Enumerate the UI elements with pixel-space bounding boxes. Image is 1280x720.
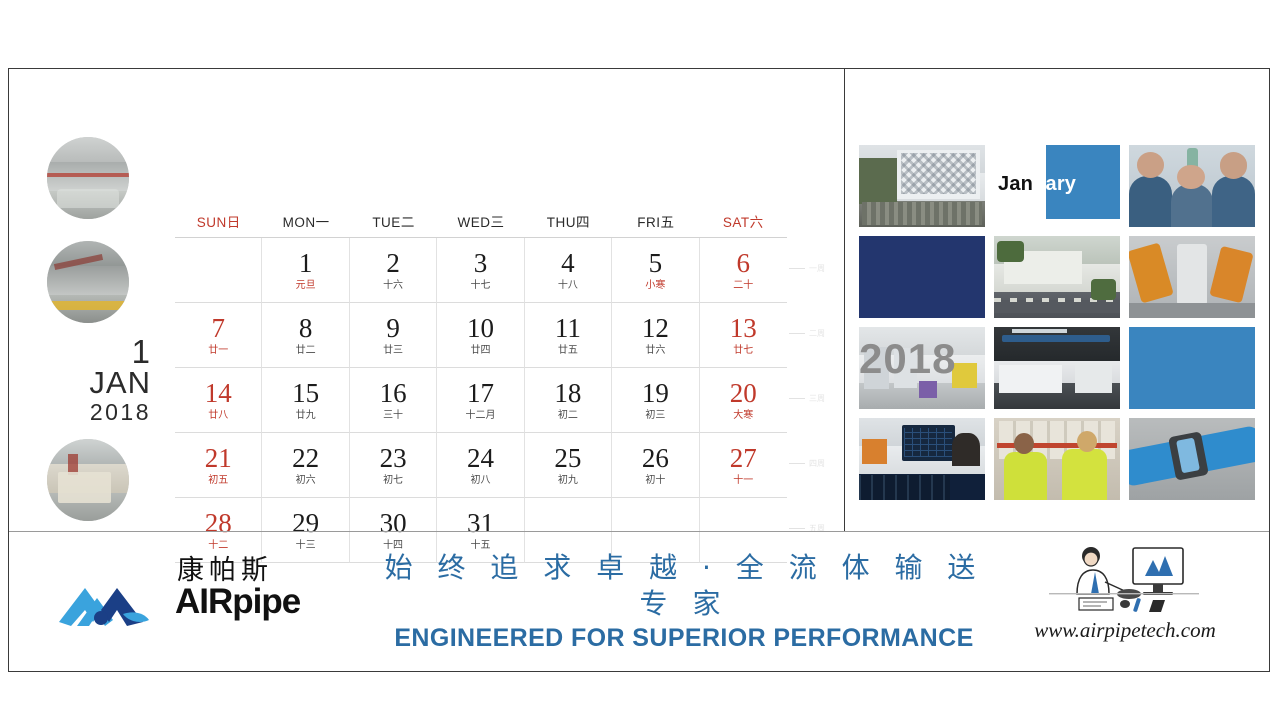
photo-shape-person-left-body	[1129, 176, 1172, 227]
photo-grid: January	[859, 145, 1255, 497]
photo-shape-tree	[859, 158, 897, 204]
photo-shape-worker-left-vest	[1004, 452, 1047, 500]
day-number: 16	[380, 379, 407, 408]
tile-aerial-warehouse-facility	[994, 236, 1120, 318]
calendar-day-cell[interactable]: 11廿五	[525, 303, 612, 368]
tagline-english: ENGINEERED FOR SUPERIOR PERFORMANCE	[379, 622, 989, 654]
photo-shape-ceiling-light	[1012, 329, 1067, 333]
calendar-day-cell[interactable]: 1元旦	[262, 238, 349, 303]
lunar-date-label: 初九	[558, 474, 578, 488]
week-marker-rule	[789, 333, 805, 334]
january-label: January	[998, 173, 1076, 196]
calendar-day-cell[interactable]: 4十八	[525, 238, 612, 303]
photo-shape-factory-floor	[1129, 303, 1255, 318]
lunar-date-label: 初二	[558, 409, 578, 423]
calendar-day-cell[interactable]: 2十六	[350, 238, 437, 303]
photo-shape-machine-right	[1075, 363, 1113, 393]
day-number: 8	[299, 314, 313, 343]
calendar-panel: 1 JAN 2018 SUN日MON一TUE二WED三THU四FRI五SAT六 …	[9, 69, 845, 531]
weekday-header-5: FRI五	[612, 211, 699, 231]
weekday-header-2: TUE二	[350, 211, 437, 231]
tile-january-label-blue-square: January	[994, 145, 1120, 227]
tile-office-building-group-photo	[859, 145, 985, 227]
photo-shape-worker-right-vest	[1062, 449, 1107, 500]
photo-shape-person-center-body	[1171, 184, 1214, 227]
photo-accent-line	[47, 301, 129, 310]
brand-wordmark: AIRpipe	[175, 582, 300, 622]
day-number: 18	[554, 379, 581, 408]
tile-machine-room-dark-interior	[994, 327, 1120, 409]
brand-block: 康帕斯 AIRpipe	[9, 532, 369, 671]
lunar-date-label: 二十	[733, 279, 753, 293]
lunar-date-label: 大寒	[733, 409, 753, 423]
day-number: 4	[561, 249, 575, 278]
photo-shape-purple-crate	[919, 381, 937, 397]
day-number: 25	[554, 444, 581, 473]
day-number: 1	[299, 249, 313, 278]
calendar-day-cell[interactable]: 13廿七	[700, 303, 787, 368]
calendar-day-cell[interactable]: 26初十	[612, 433, 699, 498]
sidebar-photo-production-line-overhead	[47, 241, 129, 323]
day-number: 7	[211, 314, 225, 343]
calendar-cell-empty	[175, 238, 262, 303]
day-number: 23	[380, 444, 407, 473]
month-indicator: 1 JAN 2018	[31, 337, 151, 425]
photo-collage-panel: January	[845, 69, 1269, 531]
week-marker-label: 三周	[809, 393, 825, 404]
photo-shape-cad-drawing-screen	[904, 428, 952, 458]
lunar-date-label: 十一	[733, 474, 753, 488]
calendar-day-cell[interactable]: 25初九	[525, 433, 612, 498]
photo-region-middle	[47, 266, 129, 299]
photo-shape-person-right-body	[1212, 176, 1255, 227]
week-marker-2: 二周	[789, 328, 825, 339]
day-number: 5	[649, 249, 663, 278]
calendar-day-cell[interactable]: 15廿九	[262, 368, 349, 433]
sidebar-photo-strip: 1 JAN 2018	[31, 69, 159, 531]
week-marker-rule	[789, 528, 805, 529]
day-number: 15	[292, 379, 319, 408]
calendar-day-cell[interactable]: 22初六	[262, 433, 349, 498]
january-label-inside: uary	[1033, 173, 1076, 195]
week-marker-rule	[789, 463, 805, 464]
calendar-day-cell[interactable]: 12廿六	[612, 303, 699, 368]
calendar-grid: SUN日MON一TUE二WED三THU四FRI五SAT六 1元旦2十六3十七4十…	[175, 211, 787, 563]
day-number: 26	[642, 444, 669, 473]
top-area: 1 JAN 2018 SUN日MON一TUE二WED三THU四FRI五SAT六 …	[9, 69, 1269, 531]
day-number: 14	[205, 379, 232, 408]
website-block: www.airpipetech.com	[989, 532, 1269, 671]
calendar-day-cell[interactable]: 3十七	[437, 238, 524, 303]
photo-accent-shape	[57, 189, 119, 207]
tile-engineer-cad-workstation	[859, 418, 985, 500]
calendar-day-cell[interactable]: 5小寒	[612, 238, 699, 303]
lunar-date-label: 廿八	[208, 409, 228, 423]
tagline-chinese: 始 终 追 求 卓 越 · 全 流 体 输 送 专 家	[379, 550, 989, 622]
weekday-header-0: SUN日	[175, 211, 262, 231]
tile-blue-pipe-coupling	[1129, 418, 1255, 500]
collage-year-label: 2018	[859, 337, 987, 381]
website-url: www.airpipetech.com	[989, 618, 1261, 643]
day-number: 20	[730, 379, 757, 408]
lunar-date-label: 廿一	[208, 344, 228, 358]
person-at-computer-icon	[1049, 542, 1199, 614]
photo-shape-person-back-of-head	[952, 433, 980, 466]
day-number: 2	[386, 249, 400, 278]
week-marker-3: 三周	[789, 393, 825, 404]
weekday-header-6: SAT六	[700, 211, 787, 231]
day-number: 10	[467, 314, 494, 343]
day-number: 17	[467, 379, 494, 408]
weekday-header-row: SUN日MON一TUE二WED三THU四FRI五SAT六	[175, 211, 787, 238]
lunar-date-label: 十七	[470, 279, 490, 293]
lunar-date-label: 廿七	[733, 344, 753, 358]
calendar-day-cell[interactable]: 14廿八	[175, 368, 262, 433]
photo-shape-person-right-head	[1220, 152, 1248, 178]
day-number: 3	[474, 249, 488, 278]
lunar-date-label: 初五	[208, 474, 228, 488]
day-number: 22	[292, 444, 319, 473]
lunar-date-label: 廿三	[383, 344, 403, 358]
calendar-day-cell[interactable]: 17十二月	[437, 368, 524, 433]
calendar-days-body: 1元旦2十六3十七4十八5小寒6二十7廿一8廿二9廿三10廿四11廿五12廿六1…	[175, 238, 787, 563]
january-label-outside: Jan	[998, 173, 1033, 195]
day-number: 27	[730, 444, 757, 473]
sidebar-photo-compressor-equipment	[47, 439, 129, 521]
calendar-day-cell[interactable]: 16三十	[350, 368, 437, 433]
lunar-date-label: 十六	[383, 279, 403, 293]
week-marker-label: 一周	[809, 263, 825, 274]
calendar-year: 2018	[31, 399, 151, 425]
week-marker-label: 二周	[809, 328, 825, 339]
lunar-date-label: 初十	[645, 474, 665, 488]
lunar-date-label: 小寒	[645, 279, 665, 293]
calendar-page-frame: 1 JAN 2018 SUN日MON一TUE二WED三THU四FRI五SAT六 …	[8, 68, 1270, 672]
week-marker-rule	[789, 398, 805, 399]
lunar-date-label: 初八	[470, 474, 490, 488]
calendar-day-cell[interactable]: 27十一	[700, 433, 787, 498]
sidebar-photo-factory-floor-aisle	[47, 137, 129, 219]
day-number: 24	[467, 444, 494, 473]
calendar-day-cell[interactable]: 23初七	[350, 433, 437, 498]
lunar-date-label: 廿九	[296, 409, 316, 423]
lunar-date-label: 元旦	[296, 279, 316, 293]
photo-shape-facade-pattern	[901, 153, 977, 194]
weekday-header-1: MON一	[262, 211, 349, 231]
lunar-date-label: 三十	[383, 409, 403, 423]
day-number: 12	[642, 314, 669, 343]
lunar-date-label: 初三	[645, 409, 665, 423]
weekday-header-3: WED三	[437, 211, 524, 231]
calendar-day-cell[interactable]: 24初八	[437, 433, 524, 498]
tile-three-men-statue-of-liberty	[1129, 145, 1255, 227]
lunar-date-label: 十八	[558, 279, 578, 293]
photo-accent-line	[47, 173, 129, 177]
bottom-brand-banner: 康帕斯 AIRpipe 始 终 追 求 卓 越 · 全 流 体 输 送 专 家 …	[9, 531, 1269, 671]
photo-shape-road	[994, 300, 1120, 313]
photo-shape-group-of-people	[862, 202, 983, 225]
photo-shape-overhead-pipe	[1002, 335, 1110, 342]
lunar-date-label: 十二月	[465, 409, 495, 423]
photo-shape-machine-left	[999, 365, 1062, 393]
calendar-day-cell[interactable]: 8廿二	[262, 303, 349, 368]
calendar-day-cell[interactable]: 19初三	[612, 368, 699, 433]
calendar-day-cell[interactable]: 6二十	[700, 238, 787, 303]
airpipe-logo-icon	[57, 580, 173, 626]
calendar-day-cell[interactable]: 21初五	[175, 433, 262, 498]
tile-warehouse-hi-vis-workers	[994, 418, 1120, 500]
calendar-day-cell[interactable]: 10廿四	[437, 303, 524, 368]
week-marker-1: 一周	[789, 263, 825, 274]
day-number: 13	[730, 314, 757, 343]
photo-shape-blueprint-overlay	[859, 475, 950, 500]
lunar-date-label: 廿六	[645, 344, 665, 358]
day-number: 19	[642, 379, 669, 408]
day-number: 21	[205, 444, 232, 473]
week-marker-4: 四周	[789, 458, 825, 469]
photo-shape-vegetation-left	[997, 241, 1025, 262]
tile-robotic-assembly-line	[1129, 236, 1255, 318]
week-marker-rule	[789, 268, 805, 269]
day-number: 11	[555, 314, 581, 343]
week-number-markers: 一周二周三周四周五周	[789, 211, 845, 541]
photo-accent-shape	[58, 472, 110, 503]
day-number: 6	[737, 249, 751, 278]
calendar-day-cell[interactable]: 20大寒	[700, 368, 787, 433]
day-number: 9	[386, 314, 400, 343]
photo-shape-person-center-head	[1177, 165, 1205, 190]
calendar-day-cell[interactable]: 18初二	[525, 368, 612, 433]
photo-shape-desk-partition	[862, 439, 887, 464]
calendar-day-cell[interactable]: 9廿三	[350, 303, 437, 368]
photo-shape-person-left-head	[1137, 152, 1165, 178]
lunar-date-label: 廿四	[470, 344, 490, 358]
calendar-day-cell[interactable]: 7廿一	[175, 303, 262, 368]
week-marker-label: 四周	[809, 458, 825, 469]
lunar-date-label: 廿五	[558, 344, 578, 358]
weekday-header-4: THU四	[525, 211, 612, 231]
lunar-date-label: 初六	[296, 474, 316, 488]
lunar-date-label: 初七	[383, 474, 403, 488]
photo-shape-car-body	[1177, 244, 1207, 305]
month-abbreviation: JAN	[31, 367, 151, 399]
tagline-block: 始 终 追 求 卓 越 · 全 流 体 输 送 专 家 ENGINEERED F…	[369, 550, 989, 654]
photo-shape-vegetation-right	[1091, 279, 1116, 300]
month-number: 1	[31, 337, 151, 367]
lunar-date-label: 廿二	[296, 344, 316, 358]
tile-blue-color-block	[1129, 327, 1255, 409]
tile-navy-color-block	[859, 236, 985, 318]
